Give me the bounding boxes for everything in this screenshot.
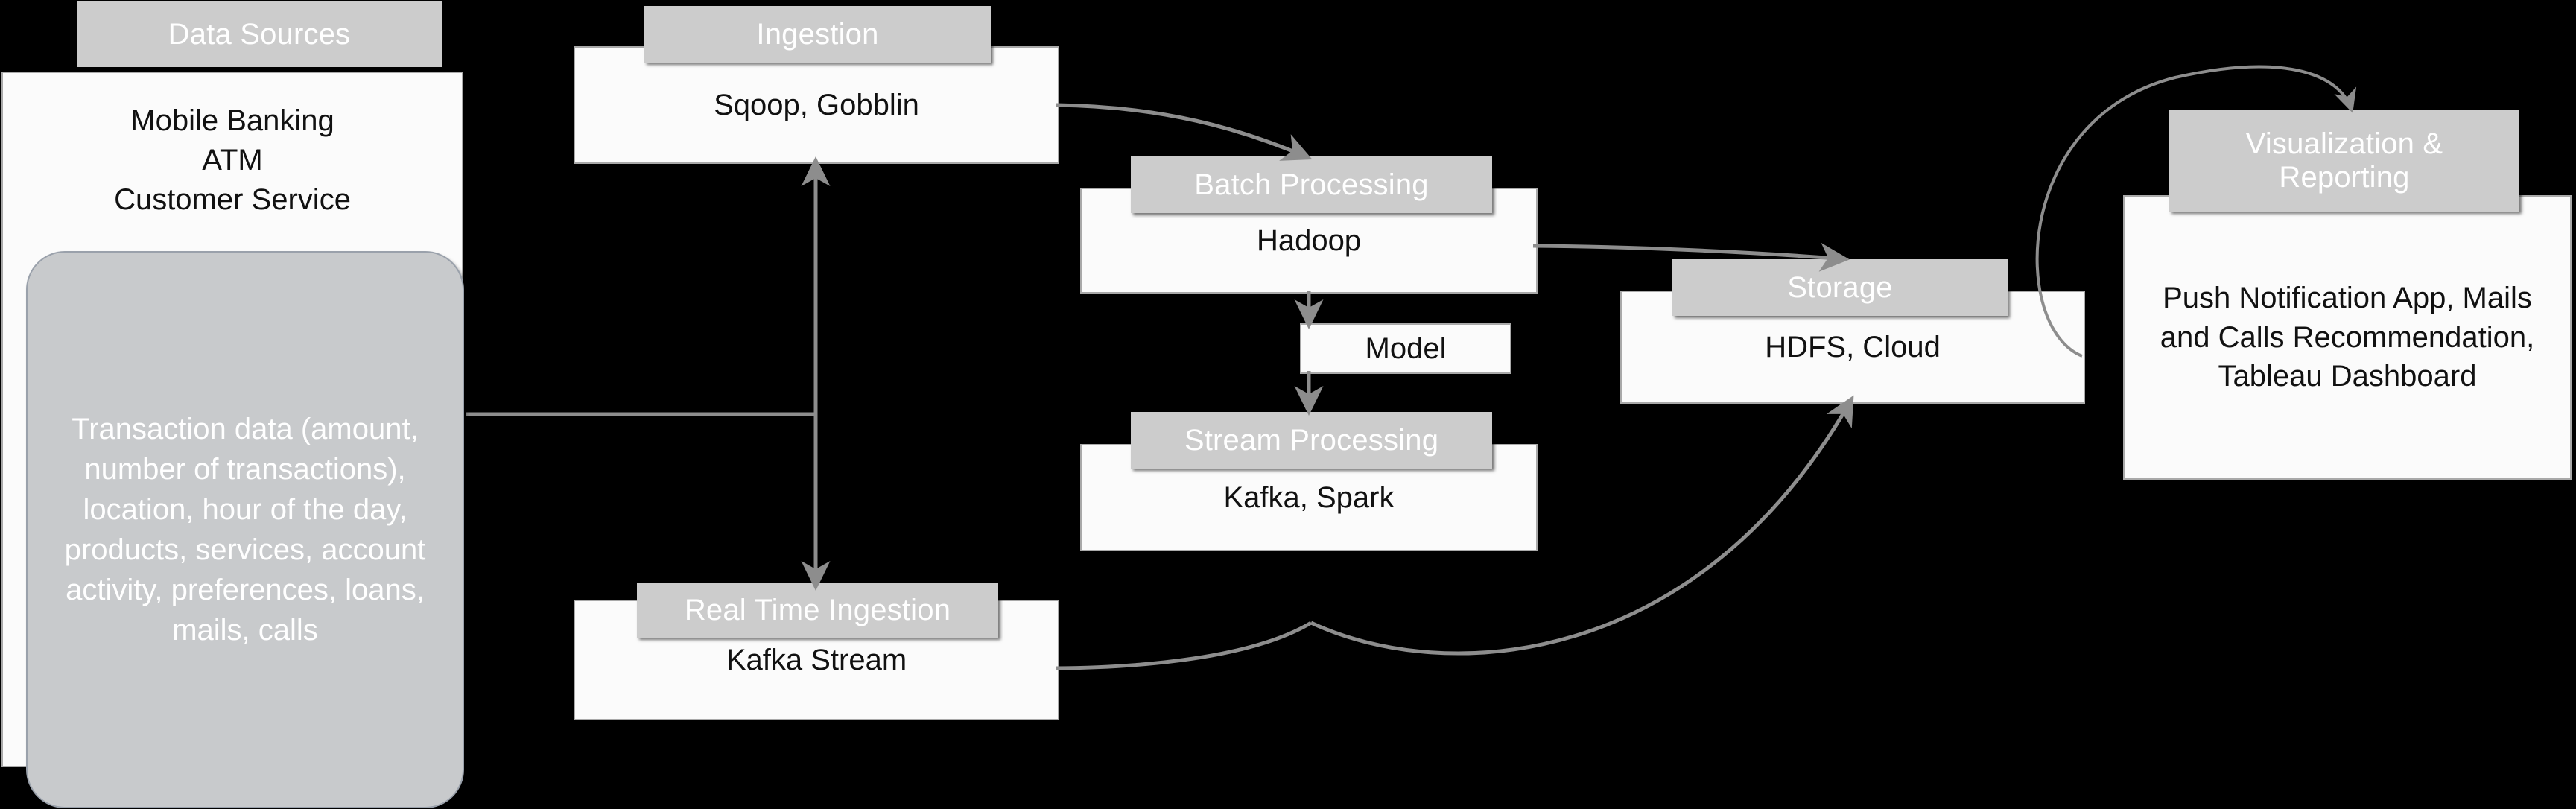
architecture-diagram: Data Sources Mobile Banking ATM Customer… bbox=[0, 0, 2576, 809]
connector-storage-to-visualization bbox=[2037, 67, 2352, 356]
connector-ingestion-to-batch bbox=[1056, 105, 1309, 158]
connector-batch-to-storage bbox=[1533, 246, 1846, 259]
connector-realtime-to-stream bbox=[1056, 623, 1311, 668]
transaction-data-card: Transaction data (amount, number of tran… bbox=[26, 251, 464, 808]
connector-stream-to-storage bbox=[1311, 399, 1852, 653]
